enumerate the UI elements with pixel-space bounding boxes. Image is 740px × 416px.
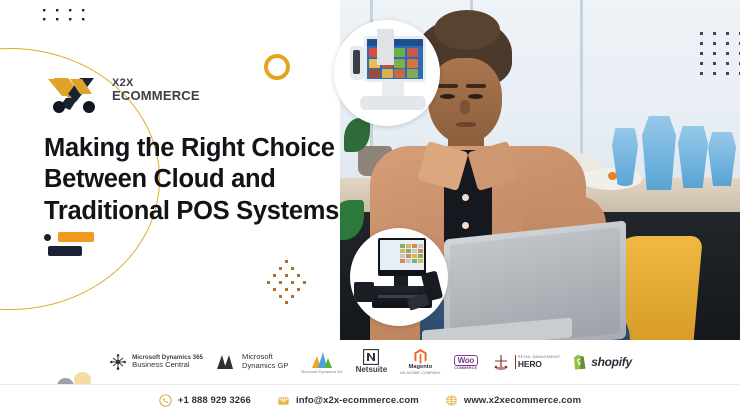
partner-logo-netsuite[interactable]: Netsuite [356,349,388,374]
brand-logo-text: X2X ECOMMERCE [112,78,200,102]
partner-logo-strip: Microsoft Dynamics 365 Business Central … [0,340,740,384]
partner-line2: Magento [408,364,432,371]
pos-screen-header [367,39,423,46]
contact-email-label: info@x2x-ecommerce.com [296,395,419,406]
email-icon [277,394,290,407]
shopify-icon [573,354,587,370]
contact-bar: +1 888 929 3266 info@x2x-ecommerce.com [0,384,740,416]
dot-grid-icon [42,8,92,24]
magento-icon [414,349,427,364]
pos-stand-base [360,96,426,110]
contact-website-label: www.x2xecommerce.com [464,395,581,406]
shirt-button [462,194,469,201]
partner-label: Microsoft Dynamics 365 Business Central [132,354,203,370]
pos-touchscreen [364,36,426,82]
page-title-line2: Between Cloud and [44,164,344,195]
partner-label: Microsoft Dynamics GP [242,353,288,371]
partner-caption: Microsoft Dynamics AX [301,370,342,374]
partner-logo-hero[interactable]: RETAIL MANAGEMENT HERO [491,354,560,371]
partner-logo-dynamics-ax[interactable]: Microsoft Dynamics AX [301,351,342,374]
pos-system-inset [350,228,448,326]
dynamics-gp-icon [216,353,238,371]
hero-icon [491,354,511,371]
pos-monitor-screen [380,240,424,270]
blue-glassware [678,126,708,188]
receipt-printer [354,282,374,302]
contact-phone[interactable]: +1 888 929 3266 [159,394,251,407]
page-title-line1: Making the Right Choice [44,133,344,164]
partner-logo-dynamics-365[interactable]: Microsoft Dynamics 365 Business Central [108,352,203,372]
pos-display-panel [353,50,360,74]
pos-monitor-stand [394,276,408,286]
contact-website[interactable]: www.x2xecommerce.com [445,394,581,407]
accent-bar-navy [48,246,82,256]
diamond-dot-pattern-icon [258,258,316,304]
contact-phone-label: +1 888 929 3266 [178,395,251,406]
partner-caption: COMMERCE [454,366,477,370]
pos-button-grid [400,244,423,263]
pos-side-panel [377,29,394,65]
partner-caption: AN ADOBE COMPANY [400,371,440,375]
partner-line2: shopify [591,355,632,369]
pos-terminal-inset [334,20,440,126]
page-title-line3: Traditional POS Systems [44,196,344,227]
page-title: Making the Right Choice Between Cloud an… [44,133,344,227]
partner-label: Netsuite [356,365,388,374]
partner-logo-dynamics-gp[interactable]: Microsoft Dynamics GP [216,353,288,371]
shirt-button [462,222,469,229]
hair-bun [434,10,500,50]
dot-grid-icon [698,30,740,84]
eyebrow [438,84,458,88]
netsuite-icon [363,349,379,365]
brand-logo[interactable]: X2X ECOMMERCE [46,72,186,118]
slide-canvas: X2X ECOMMERCE Making the Right Choice Be… [0,0,740,416]
pos-monitor [378,238,426,276]
contact-email[interactable]: info@x2x-ecommerce.com [277,394,419,407]
partner-line2: Business Central [132,360,189,369]
eye [468,94,483,99]
partner-line2: Dynamics GP [242,361,288,370]
circle-outline-icon [264,54,290,80]
partner-logo-magento[interactable]: Magento AN ADOBE COMPANY [400,349,440,375]
partner-line2: HERO [518,359,542,369]
dynamics-ax-icon [310,351,334,369]
blue-glassware [708,132,736,186]
eyebrow [466,84,486,88]
brand-name-line2: ECOMMERCE [112,89,200,102]
partner-logo-woocommerce[interactable]: Woo COMMERCE [454,355,478,370]
globe-icon [445,394,458,407]
dynamics-365-icon [108,352,128,372]
mouth [456,122,476,127]
accent-bar-orange [58,232,94,242]
nose [460,100,470,114]
partner-line1: Microsoft [242,352,273,361]
partner-logo-shopify[interactable]: shopify [573,354,632,370]
x2x-cart-logo-icon [46,74,106,116]
phone-icon [159,394,172,407]
accent-dot [44,234,51,241]
partner-line2: Woo [454,355,478,366]
eye [440,94,455,99]
